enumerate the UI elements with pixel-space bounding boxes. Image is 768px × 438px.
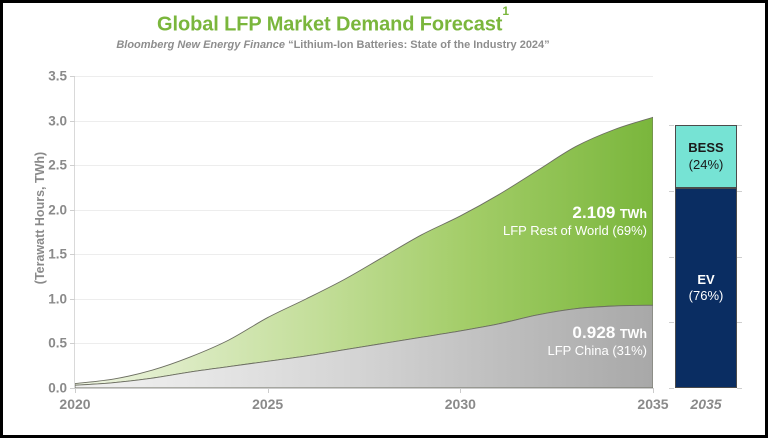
x-axis-line bbox=[74, 388, 654, 389]
annotation-china-value: 0.928 bbox=[572, 323, 615, 342]
stacked-bar-tickmark bbox=[737, 388, 742, 389]
plot-area: 0.00.51.01.52.02.53.03.5 bbox=[75, 76, 653, 388]
annotation-rest-of-world-name: LFP Rest of World (69%) bbox=[503, 224, 647, 239]
x-axis-tick-label: 2025 bbox=[252, 396, 283, 412]
y-axis-tick-label: 0.0 bbox=[27, 381, 67, 396]
stacked-bar-tickmark bbox=[737, 191, 742, 192]
y-axis-tick-label: 0.5 bbox=[27, 336, 67, 351]
x-axis-tick-label: 2020 bbox=[59, 396, 90, 412]
chart-subtitle-report: “Lithium-Ion Batteries: State of the Ind… bbox=[288, 39, 550, 51]
x-axis-tickmark bbox=[460, 388, 461, 393]
annotation-china-name: LFP China (31%) bbox=[548, 344, 647, 359]
y-axis-tick-label: 2.0 bbox=[27, 202, 67, 217]
stacked-bar-tickmark bbox=[737, 125, 742, 126]
annotation-rest-of-world-value: 2.109 bbox=[572, 203, 615, 222]
y-axis-tick-label: 3.5 bbox=[27, 69, 67, 84]
annotation-china: 0.928 TWh LFP China (31%) bbox=[548, 323, 647, 358]
annotation-rest-of-world-unit: TWh bbox=[620, 207, 647, 221]
x-axis-tickmark bbox=[653, 388, 654, 393]
stacked-bar-segment-ev[interactable]: EV(76%) bbox=[675, 188, 737, 388]
stacked-bar-tickmark bbox=[669, 388, 674, 389]
x-axis-tick-label: 2030 bbox=[445, 396, 476, 412]
stacked-bar-tickmark bbox=[669, 257, 674, 258]
stacked-bar-segment-label: EV bbox=[697, 272, 714, 288]
chart-canvas: Global LFP Market Demand Forecast1 Bloom… bbox=[3, 3, 765, 435]
stacked-bar-tickmark bbox=[669, 322, 674, 323]
stacked-bar-segment-percent: (76%) bbox=[689, 288, 724, 304]
chart-subtitle: Bloomberg New Energy Finance “Lithium-Io… bbox=[3, 39, 663, 51]
y-axis-tick-label: 3.0 bbox=[27, 113, 67, 128]
y-axis-tick-label: 2.5 bbox=[27, 158, 67, 173]
chart-title-footnote-marker: 1 bbox=[502, 4, 509, 18]
chart-title: Global LFP Market Demand Forecast1 bbox=[3, 12, 663, 37]
stacked-bar-tickmark bbox=[669, 191, 674, 192]
stacked-bar-segment-label: BESS bbox=[688, 140, 723, 156]
y-axis-tick-label: 1.0 bbox=[27, 291, 67, 306]
stacked-bar-segment-bess[interactable]: BESS(24%) bbox=[675, 125, 737, 188]
stacked-bar-tickmark bbox=[737, 322, 742, 323]
stacked-bar-2035: BESS(24%)EV(76%) bbox=[675, 125, 737, 388]
annotation-rest-of-world: 2.109 TWh LFP Rest of World (69%) bbox=[503, 203, 647, 238]
chart-title-text: Global LFP Market Demand Forecast bbox=[157, 14, 502, 36]
chart-subtitle-source: Bloomberg New Energy Finance bbox=[116, 39, 285, 51]
x-axis-tick-label: 2035 bbox=[637, 396, 668, 412]
annotation-china-unit: TWh bbox=[620, 327, 647, 341]
x-axis-tickmark bbox=[268, 388, 269, 393]
x-axis-tickmark bbox=[75, 388, 76, 393]
stacked-bar-segment-percent: (24%) bbox=[689, 157, 724, 173]
stacked-bar-tickmark bbox=[669, 125, 674, 126]
stacked-bar-category-label: 2035 bbox=[675, 396, 737, 412]
stacked-bar-tickmark bbox=[737, 257, 742, 258]
y-axis-tick-label: 1.5 bbox=[27, 247, 67, 262]
